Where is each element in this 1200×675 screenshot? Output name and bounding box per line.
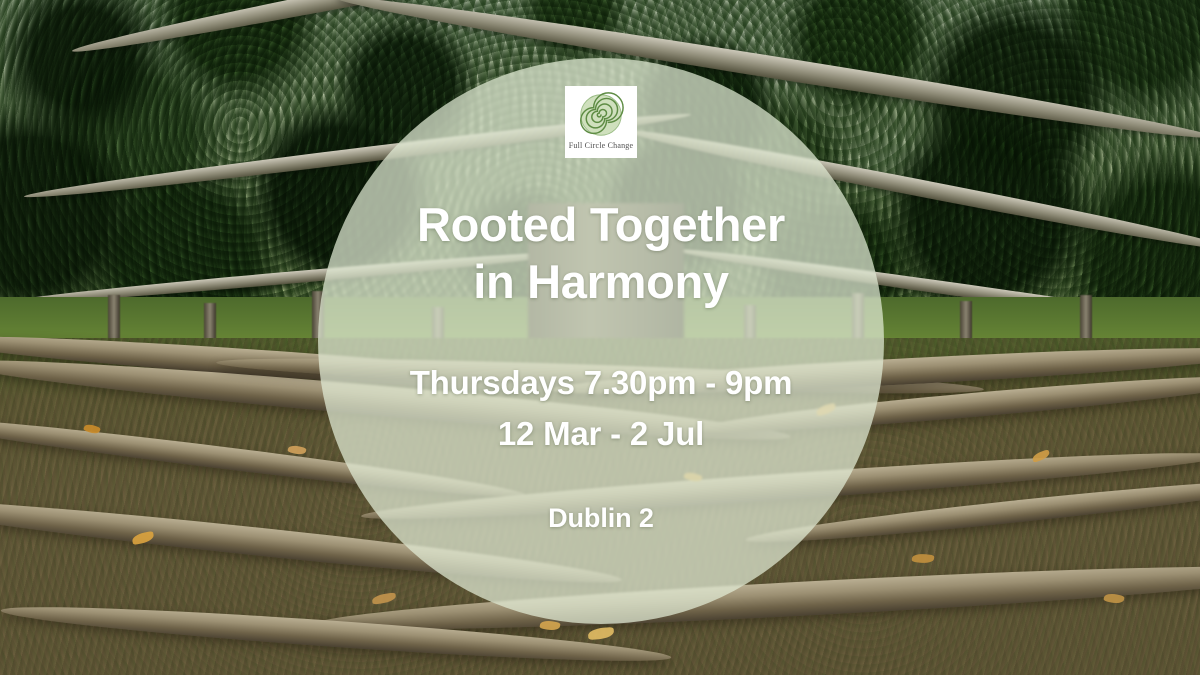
poster-content: Full Circle Change Rooted Together in Ha… bbox=[318, 58, 884, 624]
title-line-2: in Harmony bbox=[417, 253, 785, 310]
title-line-1: Rooted Together bbox=[417, 196, 785, 253]
schedule-time: Thursdays 7.30pm - 9pm bbox=[410, 357, 793, 408]
event-poster: Full Circle Change Rooted Together in Ha… bbox=[0, 0, 1200, 675]
schedule-dates: 12 Mar - 2 Jul bbox=[410, 408, 793, 459]
spiral-icon bbox=[578, 92, 624, 138]
full-circle-change-logo[interactable]: Full Circle Change bbox=[565, 86, 637, 158]
schedule-block: Thursdays 7.30pm - 9pm 12 Mar - 2 Jul bbox=[410, 357, 793, 459]
logo-caption: Full Circle Change bbox=[569, 141, 633, 150]
venue-location: Dublin 2 bbox=[548, 503, 654, 534]
page-title: Rooted Together in Harmony bbox=[417, 196, 785, 311]
